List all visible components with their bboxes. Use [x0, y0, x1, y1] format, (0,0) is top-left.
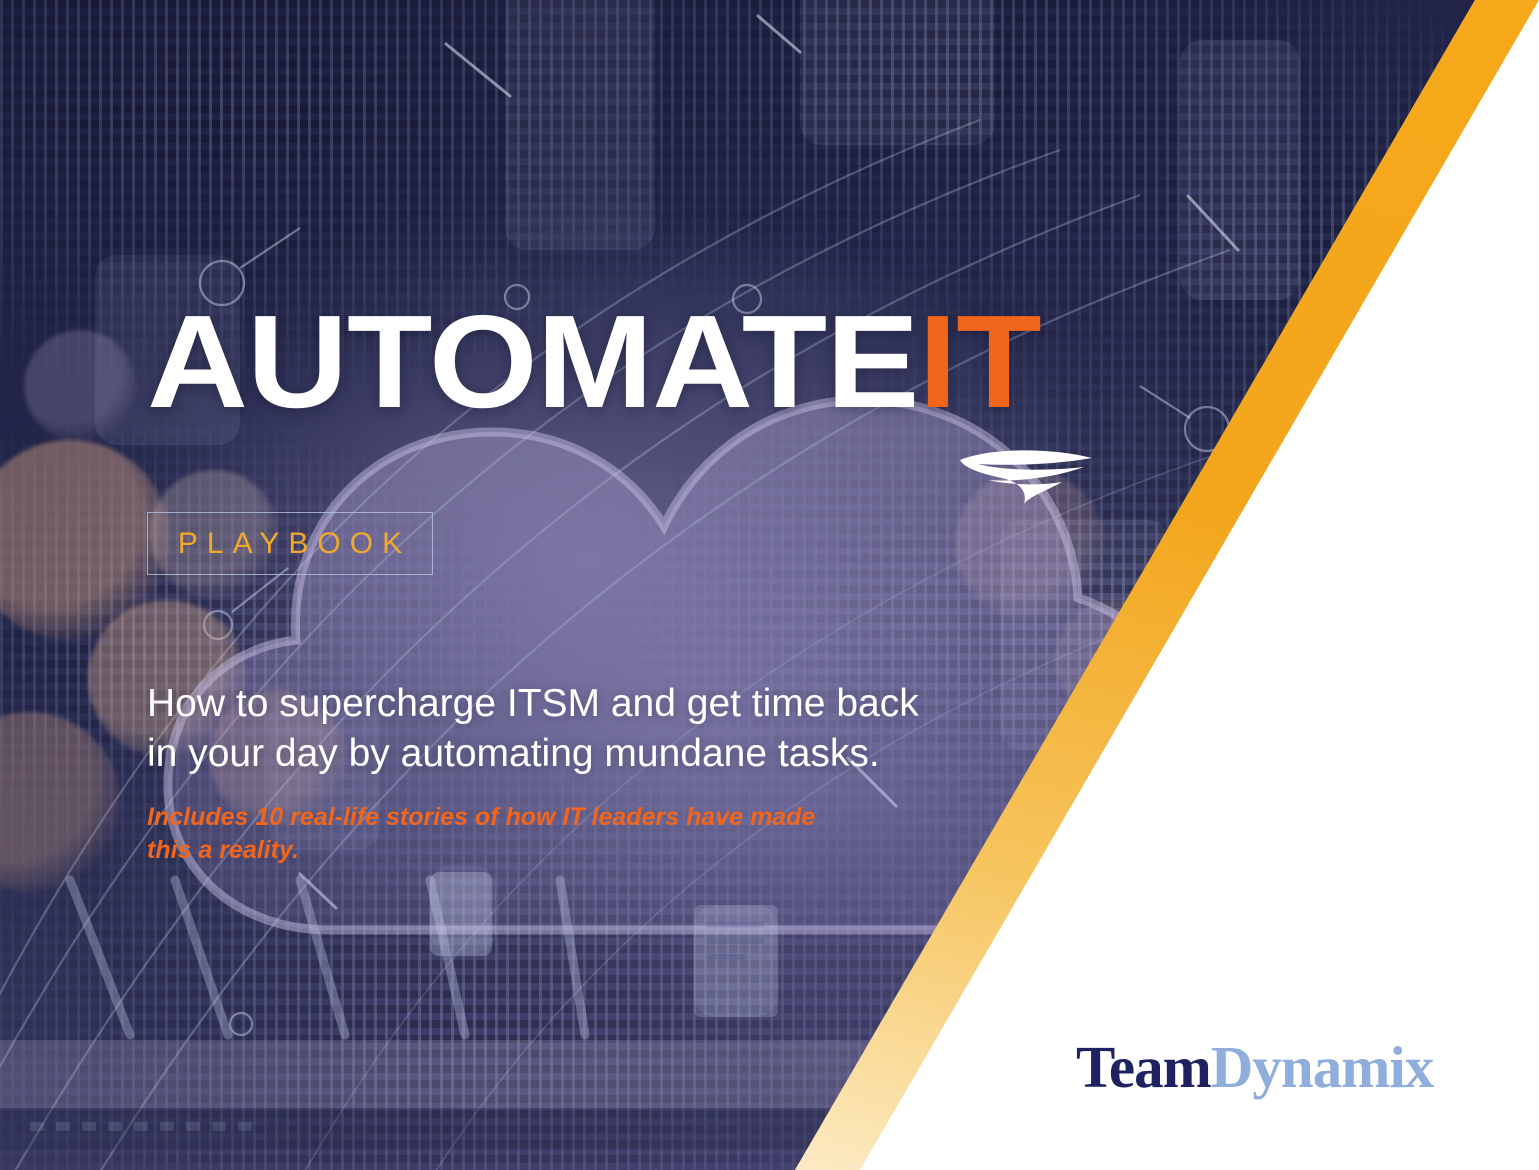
- kicker-text: Includes 10 real-life stories of how IT …: [147, 801, 827, 866]
- swoosh-icon: [958, 438, 1098, 504]
- logo-dynamix: Dynamix: [1211, 1034, 1433, 1100]
- page-title: AUTOMATEIT: [147, 296, 1041, 428]
- title-main: AUTOMATE: [147, 288, 918, 435]
- subtitle-text: How to supercharge ITSM and get time bac…: [147, 679, 947, 779]
- logo-team: Team: [1076, 1034, 1211, 1100]
- ebook-cover: AUTOMATEIT PLAYBOOK How to supercharge I…: [0, 0, 1539, 1170]
- playbook-badge: PLAYBOOK: [147, 512, 433, 575]
- title-accent: IT: [918, 288, 1040, 435]
- teamdynamix-logo: TeamDynamix: [1076, 1038, 1433, 1097]
- playbook-label: PLAYBOOK: [169, 527, 411, 561]
